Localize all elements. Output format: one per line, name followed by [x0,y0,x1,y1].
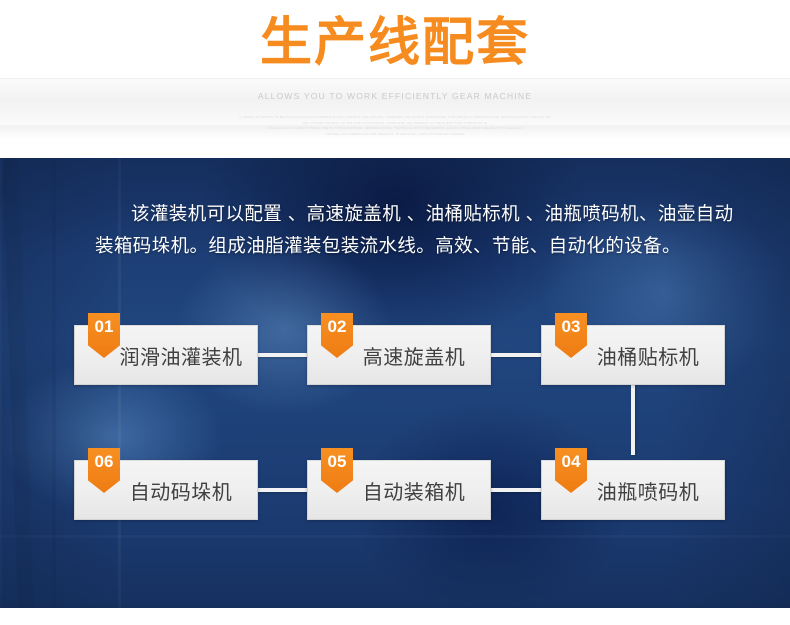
flow-card-04[interactable]: 04 油瓶喷码机 [541,460,725,520]
legal-disclaimer-text: CI BASED ATTEMPTS TO BE AS ACCURATE AS P… [0,115,790,137]
page-subtitle: ALLOWS YOU TO WORK EFFICIENTLY GEAR MACH… [0,91,790,101]
connector-03-04 [631,383,635,455]
page-header: 生产线配套 ALLOWS YOU TO WORK EFFICIENTLY GEA… [0,0,790,158]
flow-card-label-06: 自动码垛机 [75,461,257,519]
connector-06-05 [258,488,310,492]
flow-card-06[interactable]: 06 自动码垛机 [74,460,258,520]
flow-card-label-03: 油桶贴标机 [542,326,724,384]
connector-01-02 [258,353,310,357]
flow-card-03[interactable]: 03 油桶贴标机 [541,325,725,385]
flow-card-label-04: 油瓶喷码机 [542,461,724,519]
connector-02-03 [491,353,543,357]
description-text: 该灌装机可以配置 、高速旋盖机 、油桶贴标机 、油瓶喷码机、油壶自动装箱码垛机。… [95,198,735,262]
flow-card-05[interactable]: 05 自动装箱机 [307,460,491,520]
flow-card-label-02: 高速旋盖机 [308,326,490,384]
flow-card-01[interactable]: 01 润滑油灌装机 [74,325,258,385]
page-title: 生产线配套 [0,14,790,72]
flow-card-02[interactable]: 02 高速旋盖机 [307,325,491,385]
flow-card-label-05: 自动装箱机 [308,461,490,519]
connector-05-04 [491,488,543,492]
footer-strip [0,608,790,625]
flow-card-label-01: 润滑油灌装机 [75,326,257,384]
production-line-panel: 该灌装机可以配置 、高速旋盖机 、油桶贴标机 、油瓶喷码机、油壶自动装箱码垛机。… [0,158,790,608]
